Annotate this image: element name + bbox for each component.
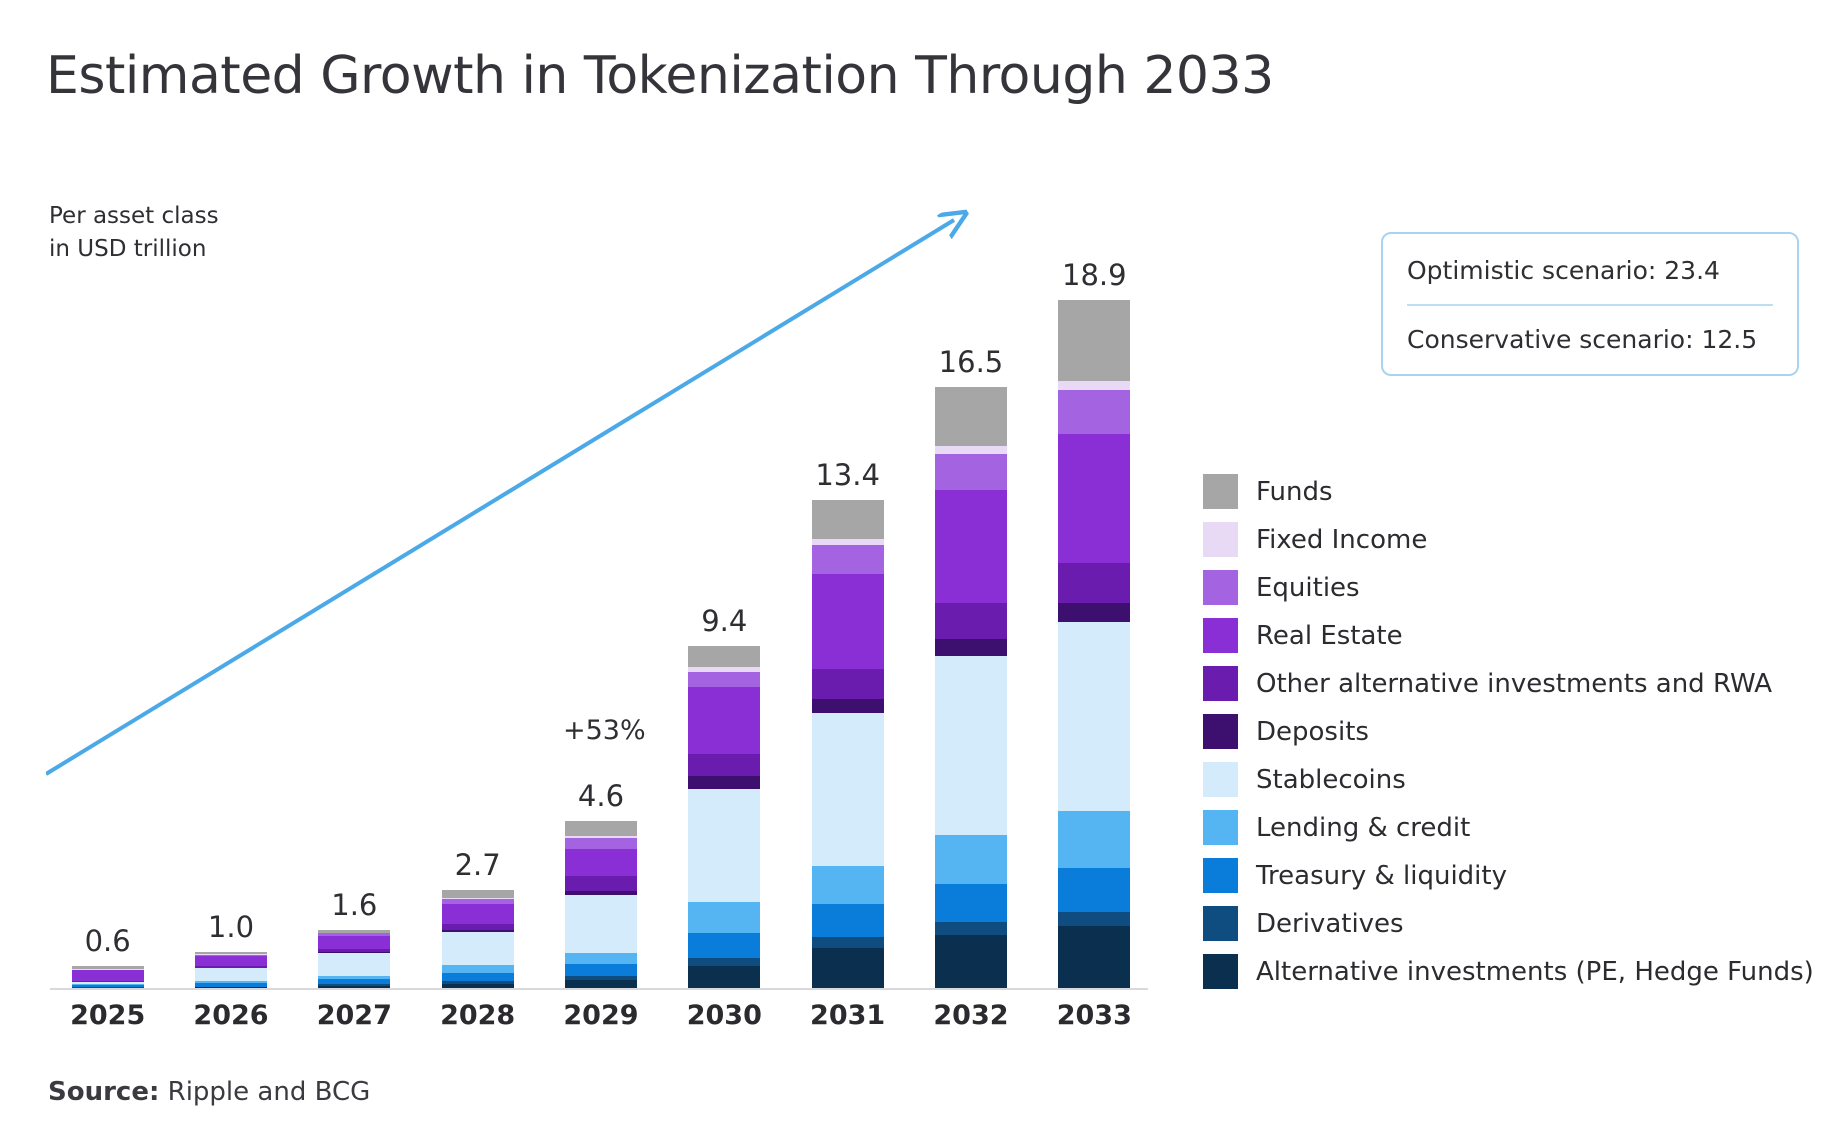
legend-item[interactable]: Lending & credit: [1203, 810, 1814, 845]
scenario-box: Optimistic scenario: 23.4 Conservative s…: [1381, 232, 1799, 376]
axis-baseline: [50, 988, 1148, 990]
bar-segment[interactable]: [442, 890, 514, 898]
bar-segment[interactable]: [688, 646, 760, 667]
bar-stack[interactable]: [688, 646, 760, 988]
bar-column: 9.4: [663, 248, 786, 988]
bar-segment[interactable]: [1058, 912, 1130, 927]
page-title: Estimated Growth in Tokenization Through…: [46, 46, 1274, 106]
bar-segment[interactable]: [935, 446, 1007, 454]
scenario-divider: [1407, 304, 1773, 306]
bar-segment[interactable]: [1058, 811, 1130, 867]
bar-group: 0.61.01.62.74.69.413.416.518.9: [46, 248, 1156, 988]
legend-item[interactable]: Other alternative investments and RWA: [1203, 666, 1814, 701]
bar-column: 18.9: [1033, 248, 1156, 988]
x-tick-2030: 2030: [663, 1000, 786, 1031]
bar-segment[interactable]: [1058, 622, 1130, 811]
legend-item[interactable]: Real Estate: [1203, 618, 1814, 653]
bar-segment[interactable]: [812, 669, 884, 699]
bar-segment[interactable]: [565, 980, 637, 988]
bar-segment[interactable]: [565, 895, 637, 953]
bar-column: 1.6: [293, 248, 416, 988]
x-tick-2026: 2026: [169, 1000, 292, 1031]
bar-value-label: 4.6: [539, 779, 662, 813]
bar-value-label: 18.9: [1033, 258, 1156, 292]
source-note: Source: Ripple and BCG: [48, 1077, 370, 1107]
legend-label: Equities: [1256, 573, 1360, 603]
legend-swatch-icon: [1203, 522, 1238, 557]
legend-label: Funds: [1256, 477, 1333, 507]
bar-segment[interactable]: [812, 866, 884, 904]
bar-segment[interactable]: [1058, 300, 1130, 381]
bar-stack[interactable]: [318, 930, 390, 988]
bar-segment[interactable]: [1058, 434, 1130, 563]
legend-label: Real Estate: [1256, 621, 1403, 651]
bar-segment[interactable]: [935, 639, 1007, 656]
bar-segment[interactable]: [442, 932, 514, 965]
bar-segment[interactable]: [688, 672, 760, 687]
bar-segment[interactable]: [688, 966, 760, 988]
x-tick-2031: 2031: [786, 1000, 909, 1031]
legend-swatch-icon: [1203, 762, 1238, 797]
bar-segment[interactable]: [935, 603, 1007, 639]
bar-segment[interactable]: [1058, 390, 1130, 434]
legend-item[interactable]: Funds: [1203, 474, 1814, 509]
legend-swatch-icon: [1203, 666, 1238, 701]
source-text: Ripple and BCG: [159, 1077, 370, 1107]
bar-stack[interactable]: [442, 890, 514, 988]
legend-label: Derivatives: [1256, 909, 1404, 939]
bar-segment[interactable]: [688, 902, 760, 933]
bar-value-label: 2.7: [416, 848, 539, 882]
bar-column: 13.4: [786, 248, 909, 988]
legend-label: Treasury & liquidity: [1256, 861, 1507, 891]
legend-label: Deposits: [1256, 717, 1369, 747]
bar-segment[interactable]: [812, 713, 884, 866]
bar-segment[interactable]: [812, 699, 884, 714]
bar-segment[interactable]: [935, 387, 1007, 446]
bar-segment[interactable]: [935, 922, 1007, 935]
x-tick-2032: 2032: [909, 1000, 1032, 1031]
x-tick-2028: 2028: [416, 1000, 539, 1031]
bar-segment[interactable]: [812, 500, 884, 538]
bar-segment[interactable]: [1058, 868, 1130, 912]
legend-item[interactable]: Fixed Income: [1203, 522, 1814, 557]
bar-segment[interactable]: [565, 876, 637, 891]
bar-segment[interactable]: [935, 454, 1007, 490]
bar-segment[interactable]: [442, 973, 514, 981]
bar-segment[interactable]: [318, 936, 390, 949]
source-prefix: Source:: [48, 1077, 159, 1107]
bar-stack[interactable]: [935, 387, 1007, 988]
legend-label: Lending & credit: [1256, 813, 1470, 843]
x-tick-2029: 2029: [539, 1000, 662, 1031]
bar-column: 0.6: [46, 248, 169, 988]
legend-label: Fixed Income: [1256, 525, 1427, 555]
legend-label: Alternative investments (PE, Hedge Funds…: [1256, 957, 1814, 987]
x-tick-2027: 2027: [293, 1000, 416, 1031]
plot-area: +53% 0.61.01.62.74.69.413.416.518.9: [46, 200, 1156, 990]
bar-value-label: 13.4: [786, 458, 909, 492]
bar-value-label: 9.4: [663, 604, 786, 638]
bar-segment[interactable]: [318, 953, 390, 976]
bar-segment[interactable]: [688, 958, 760, 966]
legend-item[interactable]: Treasury & liquidity: [1203, 858, 1814, 893]
legend-swatch-icon: [1203, 474, 1238, 509]
bar-stack[interactable]: [1058, 300, 1130, 988]
bar-segment[interactable]: [935, 884, 1007, 922]
bar-value-label: 16.5: [909, 345, 1032, 379]
bar-stack[interactable]: [812, 500, 884, 988]
legend-item[interactable]: Deposits: [1203, 714, 1814, 749]
bar-segment[interactable]: [935, 935, 1007, 988]
legend-swatch-icon: [1203, 618, 1238, 653]
bar-segment[interactable]: [812, 545, 884, 574]
legend-swatch-icon: [1203, 858, 1238, 893]
bar-segment[interactable]: [565, 838, 637, 848]
bar-column: 1.0: [169, 248, 292, 988]
bar-segment[interactable]: [935, 490, 1007, 603]
legend-label: Other alternative investments and RWA: [1256, 669, 1772, 699]
bar-segment[interactable]: [565, 821, 637, 836]
bar-segment[interactable]: [1058, 926, 1130, 988]
conservative-scenario-text: Conservative scenario: 12.5: [1407, 325, 1773, 354]
bar-segment[interactable]: [935, 656, 1007, 834]
legend-swatch-icon: [1203, 570, 1238, 605]
x-axis-ticks: 202520262027202820292030203120322033: [46, 1000, 1156, 1031]
bar-segment[interactable]: [565, 964, 637, 976]
legend-swatch-icon: [1203, 906, 1238, 941]
bar-segment[interactable]: [565, 953, 637, 964]
legend-label: Stablecoins: [1256, 765, 1406, 795]
bar-segment[interactable]: [688, 789, 760, 902]
bar-segment[interactable]: [442, 965, 514, 973]
bar-value-label: 0.6: [46, 924, 169, 958]
bar-value-label: 1.0: [169, 910, 292, 944]
bar-segment[interactable]: [195, 956, 267, 966]
optimistic-scenario-text: Optimistic scenario: 23.4: [1407, 256, 1773, 285]
legend-swatch-icon: [1203, 954, 1238, 989]
bar-segment[interactable]: [812, 937, 884, 948]
bar-column: 2.7: [416, 248, 539, 988]
bar-column: 16.5: [909, 248, 1032, 988]
bar-column: 4.6: [539, 248, 662, 988]
bar-segment[interactable]: [1058, 603, 1130, 622]
bar-stack[interactable]: [565, 821, 637, 988]
legend-item[interactable]: Alternative investments (PE, Hedge Funds…: [1203, 954, 1814, 989]
bar-stack[interactable]: [72, 966, 144, 988]
bar-value-label: 1.6: [293, 888, 416, 922]
bar-segment[interactable]: [812, 948, 884, 988]
x-tick-2033: 2033: [1033, 1000, 1156, 1031]
legend-item[interactable]: Derivatives: [1203, 906, 1814, 941]
bar-segment[interactable]: [72, 970, 144, 981]
bar-segment[interactable]: [442, 904, 514, 924]
x-tick-2025: 2025: [46, 1000, 169, 1031]
bar-segment[interactable]: [688, 687, 760, 754]
legend-swatch-icon: [1203, 810, 1238, 845]
bar-segment[interactable]: [812, 904, 884, 937]
bar-segment[interactable]: [195, 968, 267, 981]
bar-stack[interactable]: [195, 952, 267, 988]
legend-swatch-icon: [1203, 714, 1238, 749]
bar-segment[interactable]: [688, 776, 760, 789]
bar-segment[interactable]: [1058, 381, 1130, 390]
legend-item[interactable]: Stablecoins: [1203, 762, 1814, 797]
legend-item[interactable]: Equities: [1203, 570, 1814, 605]
bar-segment[interactable]: [1058, 563, 1130, 603]
bar-segment[interactable]: [688, 754, 760, 776]
bar-segment[interactable]: [935, 835, 1007, 884]
bar-segment[interactable]: [565, 849, 637, 876]
bar-segment[interactable]: [688, 933, 760, 958]
bar-segment[interactable]: [812, 574, 884, 669]
chart-legend: FundsFixed IncomeEquitiesReal EstateOthe…: [1203, 474, 1814, 989]
